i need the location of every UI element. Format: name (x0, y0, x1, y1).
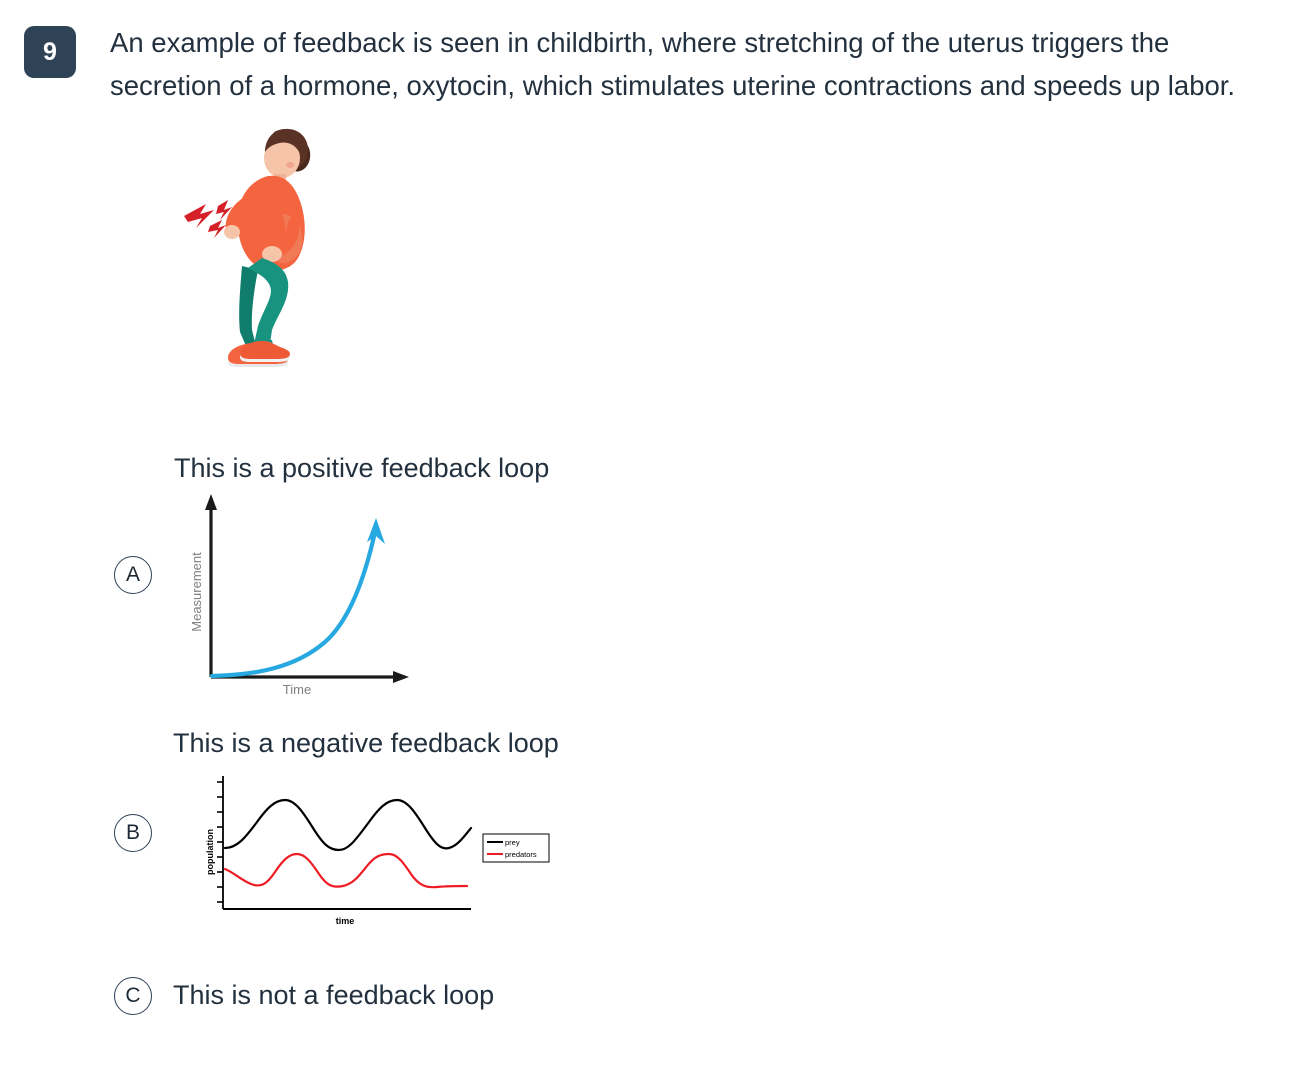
chart-b-xlabel: time (336, 916, 355, 926)
question-text: An example of feedback is seen in childb… (110, 22, 1275, 108)
option-c-marker[interactable]: C (114, 977, 152, 1015)
chart-a-positive-feedback: Measurement Time (185, 492, 415, 702)
chart-a-curve-arrowhead (367, 518, 385, 544)
chart-b-legend: prey predators (483, 834, 549, 862)
option-b-marker[interactable]: B (114, 814, 152, 852)
chart-b-ylabel: population (205, 829, 215, 875)
chart-a-growth-curve (212, 532, 375, 676)
chart-a-x-arrowhead (393, 671, 409, 683)
chart-b-negative-feedback: population time prey predators (205, 772, 555, 932)
question-block: 9 An example of feedback is seen in chil… (0, 0, 1312, 108)
legend-label-prey: prey (505, 838, 520, 847)
sneaker-back-icon (240, 341, 290, 362)
chart-b-prey-line (225, 800, 471, 850)
chart-b-predators-line (225, 854, 467, 887)
question-number-badge: 9 (24, 26, 76, 78)
chart-a-y-arrowhead (205, 494, 217, 510)
legend-label-predators: predators (505, 850, 537, 859)
chart-a-xlabel: Time (283, 682, 311, 697)
pregnant-woman-back-pain-icon (170, 118, 330, 368)
option-b-label: This is a negative feedback loop (173, 727, 559, 759)
chart-a-ylabel: Measurement (189, 552, 204, 632)
childbirth-illustration (170, 118, 330, 368)
option-a-marker[interactable]: A (114, 556, 152, 594)
option-a-label: This is a positive feedback loop (174, 452, 549, 484)
option-c-label: This is not a feedback loop (173, 979, 494, 1011)
